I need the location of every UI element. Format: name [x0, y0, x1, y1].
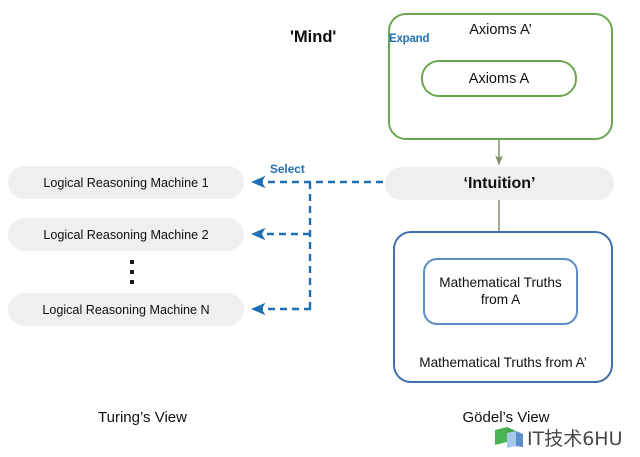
select-arrow-bus: [252, 182, 383, 310]
select-arrow-label: Select: [270, 162, 305, 176]
watermark-text: IT技术6HU: [527, 424, 623, 451]
watermark-logo-icon: [494, 426, 524, 450]
axioms-a-label: Axioms A: [469, 71, 529, 87]
machine-label: Logical Reasoning Machine 2: [43, 228, 208, 242]
math-truths-from-a-prime-label: Mathematical Truths from A’: [393, 355, 613, 370]
logical-reasoning-machine-2: Logical Reasoning Machine 2: [8, 218, 244, 251]
expand-arrow-label: Expand: [389, 33, 429, 45]
machine-label: Logical Reasoning Machine 1: [43, 176, 208, 190]
godel-inner-box: Mathematical Truths from A: [423, 258, 578, 325]
vertical-ellipsis-icon: [127, 260, 136, 288]
mind-label: 'Mind': [290, 28, 336, 47]
mind-inner-box: Axioms A: [421, 60, 577, 97]
caption-turings-view: Turing’s View: [0, 409, 285, 426]
diagram-canvas: 'Mind' Axioms A’ Axioms A Expand ‘Intuit…: [0, 0, 640, 457]
machine-label: Logical Reasoning Machine N: [42, 303, 209, 317]
logical-reasoning-machine-1: Logical Reasoning Machine 1: [8, 166, 244, 199]
watermark: IT技术6HU: [494, 424, 623, 451]
logical-reasoning-machine-n: Logical Reasoning Machine N: [8, 293, 244, 326]
intuition-label: ‘Intuition’: [464, 175, 536, 193]
intuition-box: ‘Intuition’: [385, 167, 614, 200]
math-truths-from-a-label: Mathematical Truths from A: [425, 275, 576, 308]
